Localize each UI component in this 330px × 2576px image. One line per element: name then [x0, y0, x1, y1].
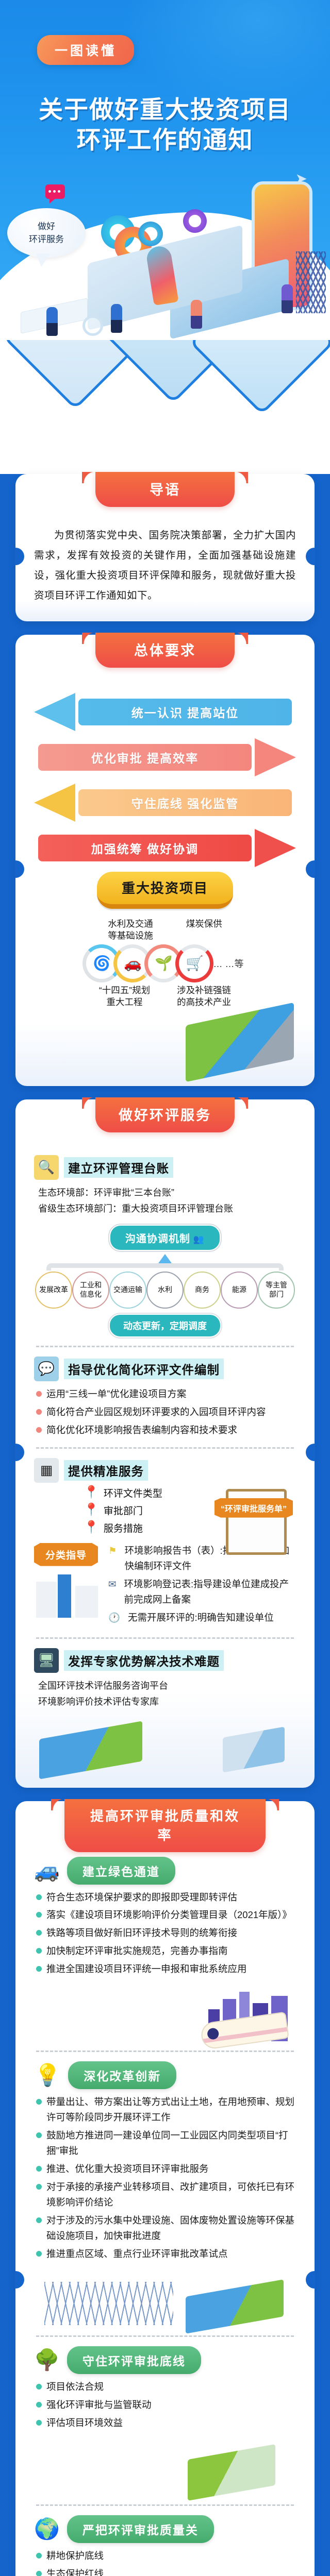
project-label: 涉及补链强链的高技术产业: [177, 985, 231, 1009]
pin-label: 审批部门: [104, 1503, 143, 1517]
bullet-item: 对于涉及的污水集中处理设施、固体废物处置设施等环保基础设施项目，加快审批进度: [36, 2213, 296, 2244]
page-title: 关于做好重大投资项目 环评工作的通知: [0, 95, 330, 156]
chat-bubble-icon: [45, 184, 65, 199]
bullet-dot-icon: [36, 2099, 42, 2105]
electric-car-icon: 🚙: [34, 1860, 60, 1881]
quality-gate-pill: 严把环评审批质量关: [67, 2515, 214, 2543]
department-circle: 商务: [184, 1272, 221, 1309]
quality-block-reform: 💡 深化改革创新 带量出让、带方案出让等方式出让土地，在用地预审、规划许可等阶段…: [34, 2061, 296, 2326]
bullet-item: 对于承接的承接产业转移项目、改扩建项目，可依托已有环境影响评价结论: [36, 2179, 296, 2210]
bullet-item: 推进重点区域、重点行业环评审批改革试点: [36, 2246, 296, 2262]
department-circle: 等主管部门: [258, 1272, 295, 1309]
department-row: 发展改革 工业和信息化 交通运输 水利 商务 能源 等主管部门: [34, 1272, 296, 1309]
service-block-line: 省级生态环境部门：重大投资项目环评管理台账: [38, 1201, 296, 1217]
bullet-item: 鼓励地方推进同一建设单位同一工业园区内同类型项目“打捆”审批: [36, 2128, 296, 2159]
section-divider: [36, 2050, 294, 2052]
bullet-text: 对于涉及的污水集中处理设施、固体废物处置设施等环保基础设施项目，加快审批进度: [46, 2213, 296, 2244]
chart-arrow-illustration: [34, 1570, 101, 1618]
requirement-arrow: 守住底线 强化监管: [34, 784, 296, 822]
speech-bubble-line-2: 环评服务: [29, 233, 64, 246]
quality-bullet-list: 符合生态环境保护要求的即报即受理即转评估 落实《建设项目环境影响评价分类管理目录…: [36, 1890, 296, 1977]
requirement-arrow-label: 加强统筹 做好协调: [38, 835, 252, 861]
bullet-text: 推进重点区域、重点行业环评审批改革试点: [46, 2246, 228, 2262]
arrow-head-right-icon: [255, 829, 296, 867]
bullet-text: 无需开展环评的:明确告知建设单位: [128, 1610, 274, 1625]
shield-tree-icon: 🌳: [34, 2350, 60, 2370]
bullet-dot-icon: [36, 1948, 42, 1954]
person-figure: [46, 307, 58, 336]
isometric-illustration-band: [0, 340, 330, 474]
department-circle: 发展改革: [35, 1272, 72, 1309]
approval-quality-card: 提高环评审批质量和效率 🚙 建立绿色通道 符合生态环境保护要求的即报即受理即转评…: [15, 1801, 315, 2576]
bullet-dot-icon: [36, 2553, 42, 2558]
service-block-lines: 全国环评技术评估服务咨询平台 环境影响评价技术评估专家库: [38, 1678, 296, 1710]
service-block-heading: 指导优化简化环评文件编制: [64, 1359, 224, 1379]
map-pin-icon: 📍: [84, 1486, 99, 1499]
bullet-item: 推进全国建设项目环评统一申报和审批系统应用: [36, 1961, 296, 1977]
bullet-dot-icon: [36, 1894, 42, 1900]
search-document-icon: 🔍: [34, 1155, 59, 1180]
dynamic-update-pill: 动态更新，定期调度: [110, 1315, 220, 1336]
dam-city-illustration: [34, 1009, 296, 1071]
bullet-item: 推进、优化重大投资项目环评审批服务: [36, 2161, 296, 2177]
arrow-head-left-icon: [34, 784, 75, 822]
service-block-line: 生态环境部：环评审批“三本台账”: [38, 1185, 296, 1201]
requirement-arrow-label: 守住底线 强化监管: [78, 789, 292, 816]
bullet-item: ✉环境影响登记表:指导建设单位建成投产前完成网上备案: [108, 1577, 296, 1607]
major-projects-pill: 重大投资项目: [97, 872, 233, 909]
bullet-text: 落实《建设项目环境影响评价分类管理目录（2021年版）》: [46, 1907, 292, 1923]
quality-bullet-list: 带量出让、带方案出让等方式出让土地，在用地预审、规划许可等阶段同步开展环评工作 …: [36, 2094, 296, 2262]
map-pin-icon: 📍: [84, 1521, 99, 1534]
person-figure: [191, 300, 202, 329]
bullet-text: 简化符合产业园区规划环评要求的入园项目环评内容: [46, 1404, 266, 1420]
person-figure: [111, 304, 122, 333]
intro-card-title: 导语: [95, 472, 235, 507]
train-city-illustration: [34, 1979, 296, 2041]
bullet-dot-icon: [36, 2571, 42, 2576]
bullet-text: 带量出让、带方案出让等方式出让土地，在用地预审、规划许可等阶段同步开展环评工作: [46, 2094, 296, 2125]
approval-quality-title: 提高环评审批质量和效率: [64, 1799, 266, 1852]
green-channel-pill: 建立绿色通道: [67, 1857, 175, 1885]
service-block-ledger: 🔍 建立环评管理台账 生态环境部：环评审批“三本台账” 省级生态环境部门：重大投…: [34, 1155, 296, 1336]
section-divider: [36, 2335, 294, 2337]
coal-cart-icon: 🛒: [175, 944, 213, 982]
bullet-dot-icon: [36, 2420, 42, 2426]
reform-innovation-pill: 深化改革创新: [68, 2061, 176, 2089]
bullet-dot-icon: [36, 2384, 42, 2389]
bullet-dot-icon: [36, 2402, 42, 2408]
bullet-dot-icon: [36, 1409, 42, 1415]
overall-requirements-title: 总体要求: [95, 633, 235, 668]
bullet-text: 项目依法合规: [46, 2379, 104, 2395]
read-in-one-picture-badge: 一图读懂: [37, 35, 134, 65]
bullet-text: 耕地保护底线: [46, 2548, 104, 2564]
monitor-forest-icon: 🖥: [34, 1648, 59, 1673]
classified-guidance-badge: 分类指导: [34, 1543, 98, 1566]
page-title-line-1: 关于做好重大投资项目: [0, 95, 330, 126]
requirement-arrow-label: 优化审批 提高效率: [38, 744, 252, 771]
gear-icon: [138, 222, 163, 246]
bullet-item: 运用“三线一单”优化建设项目方案: [36, 1386, 296, 1402]
bullet-dot-icon: [36, 2184, 42, 2190]
bullet-text: 推进、优化重大投资项目环评审批服务: [46, 2161, 209, 2177]
service-block-line: 环境影响评价技术评估专家库: [38, 1694, 296, 1710]
department-circle: 交通运输: [109, 1272, 146, 1309]
approval-service-sheet-ribbon: “环评审批服务单”: [214, 1498, 293, 1518]
department-circle: 能源: [221, 1272, 258, 1309]
speech-lines-icon: 💬: [34, 1357, 59, 1381]
bracket-connector: [46, 1263, 284, 1270]
project-label: 煤炭保供: [186, 918, 222, 942]
etcetera-label: … …等: [213, 957, 243, 970]
arrow-head-right-icon: [255, 738, 296, 776]
coordination-mechanism-pill: 沟通协调机制👥: [110, 1226, 220, 1250]
bullet-dot-icon: [36, 1966, 42, 1972]
quality-bullet-list: 项目依法合规 强化环评审批与监管联动 评估项目环境效益: [36, 2379, 296, 2431]
quality-block-gate: 🌍 严把环评审批质量关 耕地保护底线 生态保护红线 环境质量底线 资源利用上线 …: [34, 2515, 296, 2576]
bullet-text: 强化环评审批与监管联动: [46, 2397, 152, 2413]
bullet-text: 推进全国建设项目环评统一申报和审批系统应用: [46, 1961, 247, 1977]
quality-block-green-channel: 🚙 建立绿色通道 符合生态环境保护要求的即报即受理即转评估 落实《建设项目环境影…: [34, 1857, 296, 2042]
bullet-dot-icon: [36, 1391, 42, 1397]
bullet-text: 简化优化环境影响报告表编制内容和技术要求: [46, 1422, 237, 1438]
bullet-dot-icon: [36, 2251, 42, 2257]
bullet-item: 简化优化环境影响报告表编制内容和技术要求: [36, 1422, 296, 1438]
service-block-line: 全国环评技术评估服务咨询平台: [38, 1678, 296, 1694]
speech-bubble: 做好 环评服务: [7, 208, 86, 258]
bullet-item: 生态保护红线: [36, 2566, 296, 2576]
hero-banner: 一图读懂 关于做好重大投资项目 环评工作的通知 ➤ 做好 环评服务: [0, 0, 330, 340]
quality-block-bottom-line: 🌳 守住环评审批底线 项目依法合规 强化环评审批与监管联动 评估项目环境效益: [34, 2346, 296, 2495]
quality-bullet-list: 耕地保护底线 生态保护红线 环境质量底线 资源利用上线 “两高”项目: [36, 2548, 296, 2576]
green-factory-illustration: [34, 2433, 296, 2495]
isometric-tile: [189, 340, 330, 415]
person-figure: [282, 284, 293, 313]
crane-tower-icon: [296, 251, 326, 313]
bullet-dot-icon: [36, 2217, 42, 2223]
overall-requirements-card: 总体要求 统一认识 提高站位 优化审批 提高效率 守住底线 强化监管 加强统筹 …: [15, 635, 315, 1086]
pin-label: 环评文件类型: [104, 1486, 162, 1500]
table-grid-icon: ▦: [34, 1458, 59, 1483]
project-label: 水利及交通等基础设施: [108, 918, 153, 942]
clock-icon: 🕐: [108, 1610, 120, 1625]
section-divider: [36, 2504, 294, 2506]
environmental-service-title: 做好环评服务: [95, 1097, 235, 1132]
environmental-service-card: 做好环评服务 🔍 建立环评管理台账 生态环境部：环评审批“三本台账” 省级生态环…: [15, 1099, 315, 1788]
section-divider: [36, 1346, 294, 1347]
bullet-dot-icon: [36, 1930, 42, 1936]
section-divider: [36, 1447, 294, 1449]
requirement-arrow: 统一认识 提高站位: [34, 693, 296, 732]
project-icon-rings: 🌀 🚗 🌱 🛒 … …等: [34, 944, 296, 982]
project-labels-bottom: “十四五”规划重大工程 涉及补链强链的高技术产业: [34, 985, 296, 1009]
requirement-arrow: 加强统筹 做好协调: [34, 829, 296, 868]
requirement-arrow-label: 统一认识 提高站位: [78, 699, 292, 725]
service-block-heading: 发挥专家优势解决技术难题: [64, 1650, 224, 1671]
department-circle: 水利: [146, 1272, 184, 1309]
magnifier-icon: [82, 315, 103, 336]
bullet-text: 环境影响登记表:指导建设单位建成投产前完成网上备案: [124, 1577, 296, 1607]
power-grid-illustration: [34, 2264, 296, 2326]
department-circle: 工业和信息化: [72, 1272, 109, 1309]
requirement-arrow: 优化审批 提高效率: [34, 739, 296, 777]
service-block-heading: 提供精准服务: [64, 1460, 148, 1481]
bullet-item: 符合生态环境保护要求的即报即受理即转评估: [36, 1890, 296, 1905]
bullet-item: 简化符合产业园区规划环评要求的入园项目环评内容: [36, 1404, 296, 1420]
bullet-dot-icon: [36, 1912, 42, 1918]
pin-label: 服务措施: [104, 1521, 143, 1535]
bullet-text: 生态保护红线: [46, 2566, 104, 2576]
lightbulb-icon: 💡: [34, 2063, 61, 2088]
bullet-dot-icon: [36, 2132, 42, 2138]
bullet-item: 项目依法合规: [36, 2379, 296, 2395]
bottom-line-pill: 守住环评审批底线: [67, 2346, 201, 2374]
intro-paragraph: 为贯彻落实党中央、国务院决策部署，全力扩大国内需求，发挥有效投资的关键作用，全面…: [34, 526, 296, 606]
bullet-text: 铁路等项目做好新旧环评技术导则的统筹衔接: [46, 1925, 237, 1941]
envelope-icon: ✉: [108, 1577, 117, 1607]
bullet-item: 落实《建设项目环境影响评价分类管理目录（2021年版）》: [36, 1907, 296, 1923]
service-bullet-list: 运用“三线一单”优化建设项目方案 简化符合产业园区规划环评要求的入园项目环评内容…: [36, 1386, 296, 1438]
flag-icon: ⚑: [108, 1543, 117, 1574]
service-block-simplify: 💬 指导优化简化环评文件编制 运用“三线一单”优化建设项目方案 简化符合产业园区…: [34, 1357, 296, 1438]
bullet-text: 对于承接的承接产业转移项目、改扩建项目，可依托已有环境影响评价结论: [46, 2179, 296, 2210]
bullet-text: 运用“三线一单”优化建设项目方案: [46, 1386, 186, 1402]
globe-headphone-icon: 🌍: [34, 2519, 60, 2539]
bullet-item: 加快制定环评审批实施规范，完善办事指南: [36, 1943, 296, 1959]
bullet-dot-icon: [36, 1427, 42, 1433]
gear-icon: [183, 209, 207, 233]
bullet-item: 铁路等项目做好新旧环评技术导则的统筹衔接: [36, 1925, 296, 1941]
coordination-mechanism-label: 沟通协调机制: [125, 1233, 190, 1245]
service-block-precise: ▦ 提供精准服务 “环评审批服务单” 📍环评文件类型 📍审批部门 📍服务措施 分…: [34, 1458, 296, 1628]
service-block-lines: 生态环境部：环评审批“三本台账” 省级生态环境部门：重大投资项目环评管理台账: [38, 1185, 296, 1217]
map-pin-icon: 📍: [84, 1504, 99, 1516]
bullet-item: 带量出让、带方案出让等方式出让土地，在用地预审、规划许可等阶段同步开展环评工作: [36, 2094, 296, 2125]
people-group-icon: 👥: [193, 1234, 205, 1244]
up-arrow-icon: [158, 1254, 172, 1263]
bullet-item: 评估项目环境效益: [36, 2415, 296, 2431]
page-title-line-2: 环评工作的通知: [0, 126, 330, 156]
bullet-text: 符合生态环境保护要求的即报即受理即转评估: [46, 1890, 237, 1905]
intro-card: 导语 为贯彻落实党中央、国务院决策部署，全力扩大国内需求，发挥有效投资的关键作用…: [15, 474, 315, 621]
bullet-item: 耕地保护底线: [36, 2548, 296, 2564]
project-label: “十四五”规划重大工程: [99, 985, 150, 1009]
service-block-heading: 建立环评管理台账: [64, 1157, 173, 1178]
speech-bubble-line-1: 做好: [38, 220, 55, 233]
bullet-text: 加快制定环评审批实施规范，完善办事指南: [46, 1943, 228, 1959]
solar-wind-illustration: [34, 1710, 296, 1772]
bullet-dot-icon: [36, 2166, 42, 2172]
bullet-item: 强化环评审批与监管联动: [36, 2397, 296, 2413]
service-block-experts: 🖥 发挥专家优势解决技术难题 全国环评技术评估服务咨询平台 环境影响评价技术评估…: [34, 1648, 296, 1772]
section-divider: [36, 1637, 294, 1639]
bullet-text: 评估项目环境效益: [46, 2415, 123, 2431]
bullet-item: 🕐无需开展环评的:明确告知建设单位: [108, 1610, 296, 1625]
infographic-page: 一图读懂 关于做好重大投资项目 环评工作的通知 ➤ 做好 环评服务: [0, 0, 330, 2576]
bullet-text: 鼓励地方推进同一建设单位同一工业园区内同类型项目“打捆”审批: [46, 2128, 296, 2159]
project-labels-top: 水利及交通等基础设施 煤炭保供: [34, 918, 296, 942]
arrow-head-left-icon: [34, 693, 75, 731]
